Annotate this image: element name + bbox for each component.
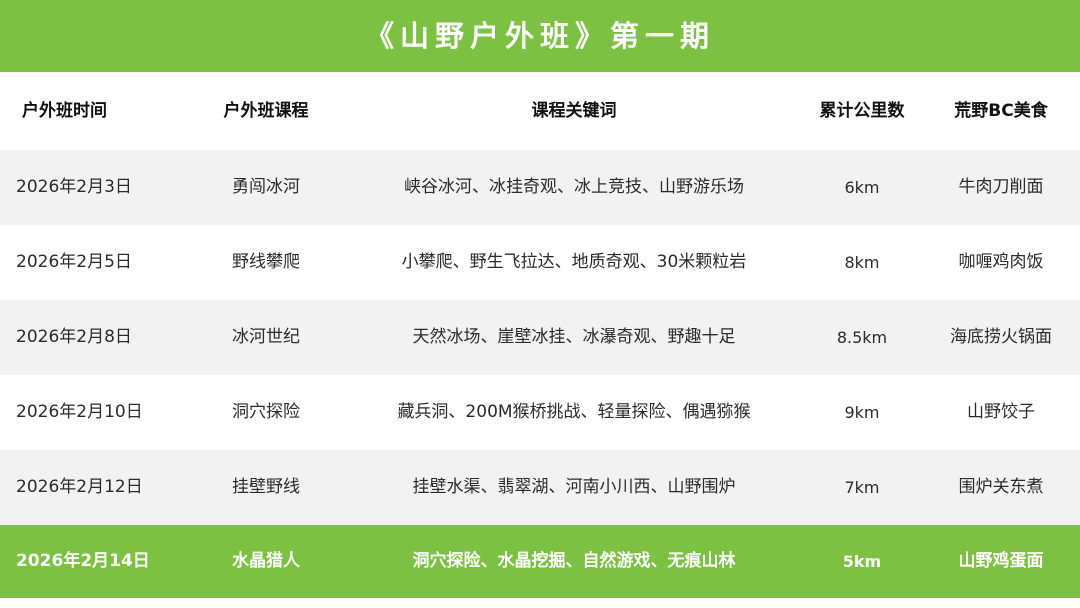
table-row[interactable]: 2026年2月3日 勇闯冰河 峡谷冰河、冰挂奇观、冰上竞技、山野游乐场 6km … [0,150,1080,225]
cell-course: 挂壁野线 [186,477,346,497]
cell-course: 冰河世纪 [186,327,346,347]
table-header-row: 户外班时间 户外班课程 课程关键词 累计公里数 荒野BC美食 [0,72,1080,150]
cell-food: 咖喱鸡肉饭 [922,252,1080,272]
cell-course: 勇闯冰河 [186,177,346,197]
cell-course: 洞穴探险 [186,402,346,422]
cell-food: 围炉关东煮 [922,477,1080,497]
cell-food: 牛肉刀削面 [922,177,1080,197]
cell-food: 山野饺子 [922,402,1080,422]
column-header-course: 户外班课程 [186,101,346,121]
poster-root: 《山野户外班》第一期 户外班时间 户外班课程 课程关键词 累计公里数 荒野BC美… [0,0,1080,608]
cell-date: 2026年2月12日 [0,477,186,497]
column-header-date: 户外班时间 [0,101,186,121]
table-row[interactable]: 2026年2月10日 洞穴探险 藏兵洞、200M猴桥挑战、轻量探险、偶遇猕猴 9… [0,375,1080,450]
cell-km: 9km [802,403,922,422]
cell-km: 7km [802,478,922,497]
table-row[interactable]: 2026年2月12日 挂壁野线 挂壁水渠、翡翠湖、河南小川西、山野围炉 7km … [0,450,1080,525]
cell-km: 8.5km [802,328,922,347]
cell-food: 海底捞火锅面 [922,327,1080,347]
cell-km: 6km [802,178,922,197]
cell-course: 野线攀爬 [186,252,346,272]
cell-date: 2026年2月14日 [0,551,186,571]
cell-date: 2026年2月3日 [0,177,186,197]
cell-keywords: 藏兵洞、200M猴桥挑战、轻量探险、偶遇猕猴 [346,402,802,422]
cell-km: 8km [802,253,922,272]
cell-keywords: 峡谷冰河、冰挂奇观、冰上竞技、山野游乐场 [346,177,802,197]
table-row[interactable]: 2026年2月5日 野线攀爬 小攀爬、野生飞拉达、地质奇观、30米颗粒岩 8km… [0,225,1080,300]
cell-keywords: 小攀爬、野生飞拉达、地质奇观、30米颗粒岩 [346,252,802,272]
table-row[interactable]: 2026年2月8日 冰河世纪 天然冰场、崖壁冰挂、冰瀑奇观、野趣十足 8.5km… [0,300,1080,375]
column-header-keywords: 课程关键词 [346,101,802,121]
column-header-km: 累计公里数 [802,101,922,121]
table-row-highlighted[interactable]: 2026年2月14日 水晶猎人 洞穴探险、水晶挖掘、自然游戏、无痕山林 5km … [0,525,1080,598]
cell-keywords: 天然冰场、崖壁冰挂、冰瀑奇观、野趣十足 [346,327,802,347]
cell-date: 2026年2月10日 [0,402,186,422]
cell-km: 5km [802,552,922,571]
title-banner: 《山野户外班》第一期 [0,0,1080,72]
column-header-food: 荒野BC美食 [922,101,1080,121]
cell-food: 山野鸡蛋面 [922,551,1080,571]
cell-date: 2026年2月8日 [0,327,186,347]
cell-course: 水晶猎人 [186,551,346,571]
schedule-table: 户外班时间 户外班课程 课程关键词 累计公里数 荒野BC美食 2026年2月3日… [0,72,1080,608]
page-title: 《山野户外班》第一期 [365,22,715,51]
cell-keywords: 挂壁水渠、翡翠湖、河南小川西、山野围炉 [346,477,802,497]
cell-date: 2026年2月5日 [0,252,186,272]
cell-keywords: 洞穴探险、水晶挖掘、自然游戏、无痕山林 [346,551,802,571]
